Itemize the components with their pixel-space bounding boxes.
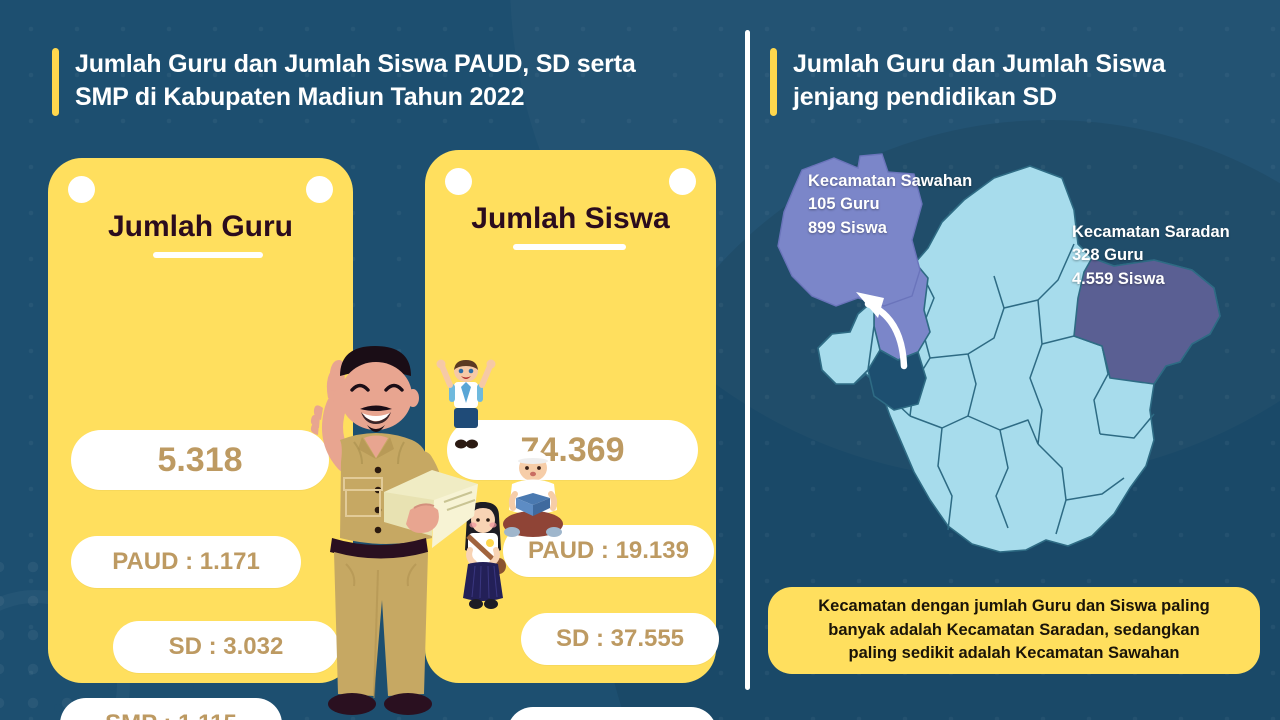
card-siswa-underline bbox=[513, 244, 626, 250]
left-panel-title: Jumlah Guru dan Jumlah Siswa PAUD, SD se… bbox=[52, 48, 712, 116]
guru-smp-value: SMP : 1.115 bbox=[60, 698, 282, 720]
teacher-illustration bbox=[268, 312, 483, 720]
card-guru-underline bbox=[153, 252, 263, 258]
title-accent-bar-left bbox=[52, 48, 59, 116]
siswa-smp-value: SMP : 17.675 bbox=[507, 707, 717, 720]
title-accent-bar-right bbox=[770, 48, 777, 116]
right-panel-title: Jumlah Guru dan Jumlah Siswa jenjang pen… bbox=[770, 48, 1240, 116]
guru-paud-value: PAUD : 1.171 bbox=[71, 536, 301, 588]
map-label-saradan: Kecamatan Saradan 328 Guru 4.559 Siswa bbox=[1072, 221, 1230, 291]
siswa-sd-value: SD : 37.555 bbox=[521, 613, 719, 665]
summary-callout: Kecamatan dengan jumlah Guru dan Siswa p… bbox=[768, 587, 1260, 674]
infographic-canvas: Jumlah Guru dan Jumlah Siswa PAUD, SD se… bbox=[0, 0, 1280, 720]
map-label-sawahan: Kecamatan Sawahan 105 Guru 899 Siswa bbox=[808, 170, 972, 240]
card-siswa-title: Jumlah Siswa bbox=[425, 202, 716, 236]
left-panel-title-text: Jumlah Guru dan Jumlah Siswa PAUD, SD se… bbox=[75, 48, 636, 114]
panel-divider bbox=[745, 30, 750, 690]
card-guru-title: Jumlah Guru bbox=[48, 210, 353, 244]
card-hole-left-icon bbox=[68, 176, 95, 203]
card-hole-right-icon bbox=[306, 176, 333, 203]
right-panel-title-text: Jumlah Guru dan Jumlah Siswa jenjang pen… bbox=[793, 48, 1165, 114]
card-hole-left-icon bbox=[445, 168, 472, 195]
card-hole-right-icon bbox=[669, 168, 696, 195]
summary-callout-text: Kecamatan dengan jumlah Guru dan Siswa p… bbox=[818, 595, 1210, 665]
